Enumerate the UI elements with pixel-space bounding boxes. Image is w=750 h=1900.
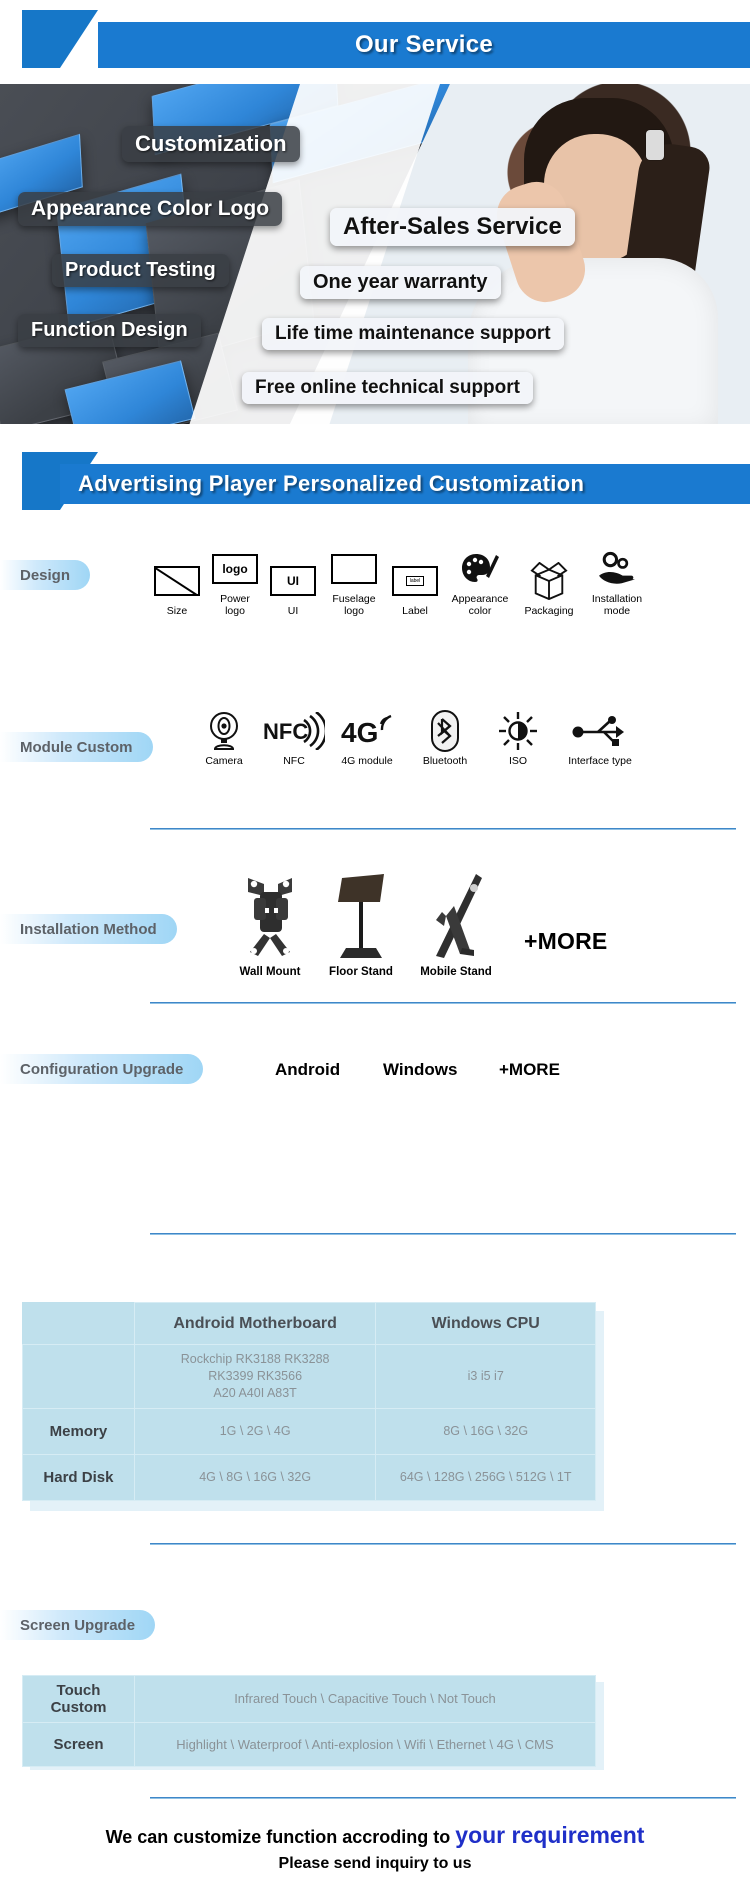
module-item-4g-caption: 4G module [341, 756, 392, 768]
table-row: Touch Custom Infrared Touch \ Capacitive… [23, 1676, 596, 1723]
usb-icon [572, 710, 628, 752]
configuration-upgrade-label-pill: Configuration Upgrade [0, 1054, 203, 1084]
design-item-ui[interactable]: UI UI [264, 560, 322, 618]
design-item-fuselage-logo[interactable]: Fuselagelogo [322, 548, 386, 618]
module-custom-label-pill: Module Custom [0, 732, 153, 762]
module-custom-row: Module Custom Camera NFC [0, 704, 750, 824]
installation-item-wall-mount[interactable]: Wall Mount [226, 870, 314, 979]
our-service-bar: Our Service [98, 22, 750, 68]
fuselage-logo-icon [331, 548, 377, 590]
module-item-iso-caption: ISO [509, 756, 527, 768]
design-item-packaging[interactable]: Packaging [516, 560, 582, 618]
design-item-packaging-caption: Packaging [524, 606, 573, 618]
config-header-android: Android Motherboard [134, 1303, 376, 1345]
hero-tag-lifetime-support: Life time maintenance support [262, 318, 564, 350]
module-item-nfc-caption: NFC [283, 756, 305, 768]
installation-item-mobile-stand-caption: Mobile Stand [420, 966, 492, 979]
wall-mount-icon [234, 870, 306, 962]
config-row2-windows: 64G \ 128G \ 256G \ 512G \ 1T [376, 1454, 596, 1500]
installation-more-label: +MORE [524, 928, 607, 955]
divider-installation [150, 1233, 736, 1235]
module-item-nfc[interactable]: NFC NFC [260, 710, 328, 768]
design-item-installation-mode[interactable]: Installationmode [582, 548, 652, 618]
config-header-blank [23, 1303, 135, 1345]
installation-icons: Wall Mount Floor Stand [226, 870, 504, 979]
palette-svg [460, 552, 500, 586]
svg-text:NFC: NFC [263, 719, 308, 744]
config-option-more[interactable]: +MORE [499, 1060, 560, 1080]
installation-item-floor-stand[interactable]: Floor Stand [314, 870, 408, 979]
hero-tag-function-design: Function Design [18, 314, 201, 347]
config-row2-label: Hard Disk [23, 1454, 135, 1500]
installation-item-mobile-stand[interactable]: Mobile Stand [408, 870, 504, 979]
screen-row1-value: Highlight \ Waterproof \ Anti-explosion … [135, 1723, 596, 1767]
design-row: Design Size logo Powerlogo UI UI Fuselag… [0, 548, 750, 676]
palette-icon [460, 548, 500, 590]
table-row: Rockchip RK3188 RK3288RK3399 RK3566A20 A… [23, 1345, 596, 1409]
design-item-fuselage-logo-caption: Fuselagelogo [332, 594, 375, 618]
bluetooth-icon [431, 710, 459, 752]
design-item-power-logo-caption: Powerlogo [220, 594, 250, 618]
design-item-size-caption: Size [167, 606, 187, 618]
config-row0-android: Rockchip RK3188 RK3288RK3399 RK3566A20 A… [134, 1345, 376, 1409]
footer-line-1-highlight: your requirement [455, 1822, 644, 1848]
design-item-installation-mode-caption: Installationmode [592, 594, 642, 618]
brightness-svg [498, 711, 538, 751]
config-row0-label [23, 1345, 135, 1409]
usb-svg [572, 715, 628, 747]
design-item-label-caption: Label [402, 606, 428, 618]
divider-configuration [150, 1543, 736, 1545]
design-item-appearance-color-caption: Appearancecolor [452, 594, 509, 618]
screen-row0-value: Infrared Touch \ Capacitive Touch \ Not … [135, 1676, 596, 1723]
floor-stand-svg [326, 872, 396, 960]
module-item-camera[interactable]: Camera [188, 710, 260, 768]
advertising-player-bar: Advertising Player Personalized Customiz… [60, 464, 750, 504]
package-box-icon [530, 560, 568, 602]
mobile-stand-svg [418, 872, 494, 960]
installation-method-label-pill: Installation Method [0, 914, 177, 944]
size-icon [154, 560, 200, 602]
screen-table: Touch Custom Infrared Touch \ Capacitive… [22, 1675, 596, 1767]
package-box-svg [530, 562, 568, 600]
brightness-icon [498, 710, 538, 752]
svg-text:4G: 4G [341, 717, 378, 748]
footer: We can customize function accroding to y… [0, 1822, 750, 1873]
configuration-upgrade-row: Configuration Upgrade Android Windows +M… [0, 1054, 750, 1094]
wall-mount-svg [234, 872, 306, 960]
design-item-size[interactable]: Size [148, 560, 206, 618]
hero-collage: Customization Appearance Color Logo Prod… [0, 84, 750, 424]
screen-pill-wrap: Screen Upgrade [0, 1610, 155, 1640]
config-row1-android: 1G \ 2G \ 4G [134, 1408, 376, 1454]
design-item-ui-caption: UI [288, 606, 299, 618]
floor-stand-icon [326, 870, 396, 962]
table-row: Hard Disk 4G \ 8G \ 16G \ 32G 64G \ 128G… [23, 1454, 596, 1500]
hero-tag-one-year-warranty: One year warranty [300, 266, 501, 299]
footer-line-1-prefix: We can customize function accroding to [106, 1827, 456, 1847]
module-item-bluetooth[interactable]: Bluetooth [406, 710, 484, 768]
advertising-player-title: Advertising Player Personalized Customiz… [60, 471, 584, 497]
module-item-bluetooth-caption: Bluetooth [423, 756, 467, 768]
config-table-header-row: Android Motherboard Windows CPU [23, 1303, 596, 1345]
configuration-pill-wrap: Configuration Upgrade [0, 1054, 203, 1084]
design-label-pill: Design [0, 560, 90, 590]
nfc-icon: NFC [263, 710, 325, 752]
config-option-windows[interactable]: Windows [383, 1060, 457, 1080]
config-row1-label: Memory [23, 1408, 135, 1454]
screen-row1-label: Screen [23, 1723, 135, 1767]
gear-hand-svg [597, 551, 637, 587]
config-header-windows: Windows CPU [376, 1303, 596, 1345]
our-service-title: Our Service [355, 31, 493, 59]
module-item-camera-caption: Camera [205, 756, 242, 768]
design-pill-wrap: Design [0, 560, 90, 590]
design-item-power-logo[interactable]: logo Powerlogo [206, 548, 264, 618]
hero-tag-after-sales: After-Sales Service [330, 208, 575, 246]
table-row: Memory 1G \ 2G \ 4G 8G \ 16G \ 32G [23, 1408, 596, 1454]
power-logo-icon: logo [212, 548, 258, 590]
label-icon: label [392, 560, 438, 602]
installation-item-wall-mount-caption: Wall Mount [240, 966, 301, 979]
config-row0-windows: i3 i5 i7 [376, 1345, 596, 1409]
configuration-table: Android Motherboard Windows CPU Rockchip… [22, 1302, 596, 1501]
hero-tag-customization: Customization [122, 126, 300, 162]
module-item-interface-type[interactable]: Interface type [552, 710, 648, 768]
nfc-svg: NFC [263, 712, 325, 750]
module-pill-wrap: Module Custom [0, 732, 153, 762]
hero-tag-appearance-color: Appearance Color Logo [18, 192, 282, 226]
module-custom-icons: Camera NFC NFC 4G 4G module [188, 710, 748, 768]
design-icons: Size logo Powerlogo UI UI Fuselagelogo l… [148, 548, 748, 618]
screen-upgrade-label-pill: Screen Upgrade [0, 1610, 155, 1640]
divider-design [150, 828, 736, 830]
camera-svg [207, 711, 241, 751]
our-service-banner: Our Service [0, 10, 750, 68]
camera-icon [207, 710, 241, 752]
screen-row0-label: Touch Custom [23, 1676, 135, 1723]
hero-tag-product-testing: Product Testing [52, 254, 229, 287]
4g-svg: 4G [341, 712, 393, 750]
footer-line-2: Please send inquiry to us [0, 1855, 750, 1873]
design-item-label[interactable]: label Label [386, 560, 444, 618]
installation-method-row: Installation Method [0, 870, 750, 1010]
module-item-interface-type-caption: Interface type [568, 756, 632, 768]
installation-pill-wrap: Installation Method [0, 914, 177, 944]
divider-screen [150, 1797, 736, 1799]
headset-icon [646, 130, 664, 160]
mobile-stand-icon [418, 870, 494, 962]
design-item-appearance-color[interactable]: Appearancecolor [444, 548, 516, 618]
table-row: Screen Highlight \ Waterproof \ Anti-exp… [23, 1723, 596, 1767]
installation-item-floor-stand-caption: Floor Stand [329, 966, 393, 979]
hero-tag-free-online: Free online technical support [242, 372, 533, 404]
module-item-iso[interactable]: ISO [484, 710, 552, 768]
module-item-4g[interactable]: 4G 4G module [328, 710, 406, 768]
4g-icon: 4G [341, 710, 393, 752]
advertising-player-banner: Advertising Player Personalized Customiz… [0, 452, 750, 510]
bluetooth-svg [431, 710, 459, 752]
config-row2-android: 4G \ 8G \ 16G \ 32G [134, 1454, 376, 1500]
footer-line-1: We can customize function accroding to y… [0, 1822, 750, 1849]
config-row1-windows: 8G \ 16G \ 32G [376, 1408, 596, 1454]
config-option-android[interactable]: Android [275, 1060, 340, 1080]
ui-icon: UI [270, 560, 316, 602]
gear-hand-icon [597, 548, 637, 590]
